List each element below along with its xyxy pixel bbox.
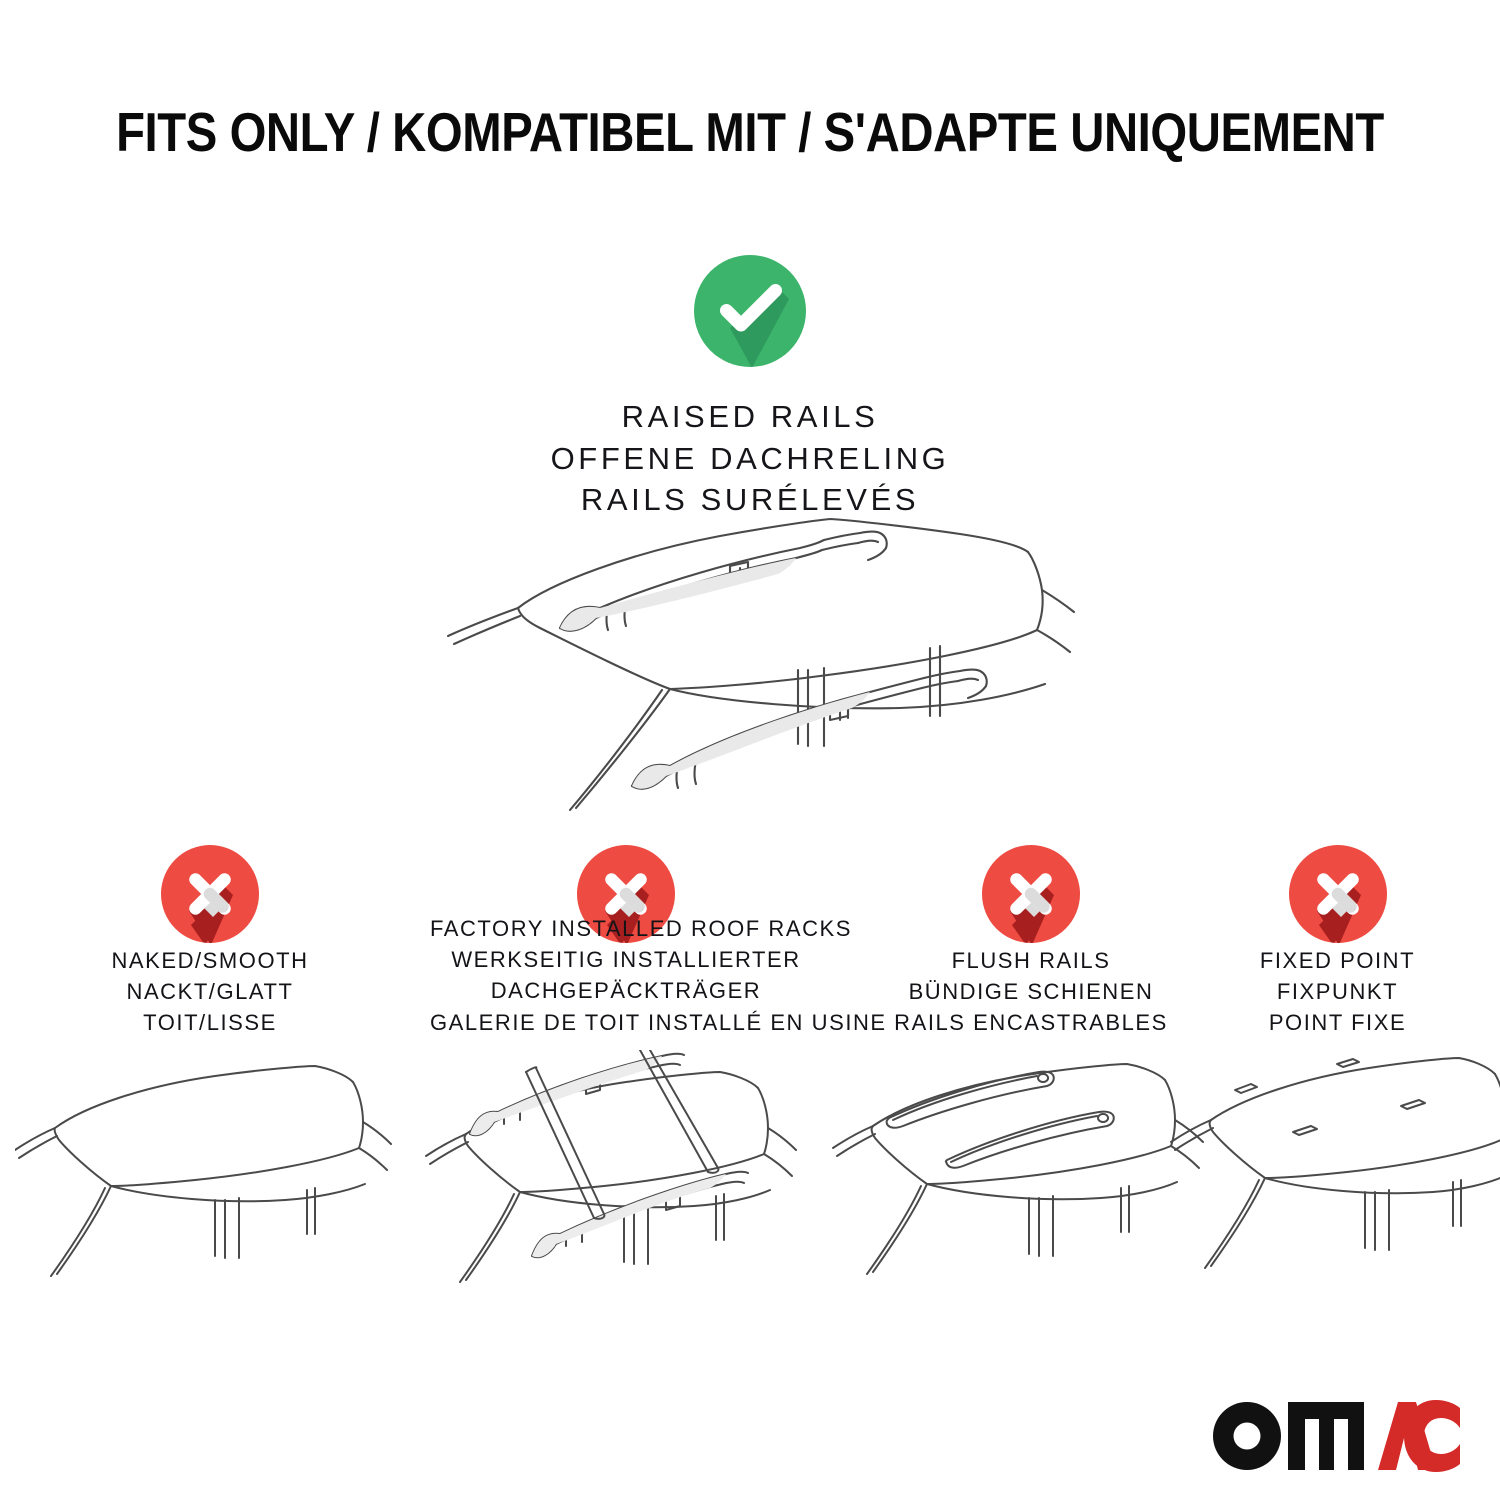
compatible-label-line-2: OFFENE DACHRELING: [0, 438, 1500, 480]
label-line-2: FIXPUNKT: [1195, 976, 1480, 1007]
label-line-4: GALERIE DE TOIT INSTALLÉ EN USINE: [430, 1007, 822, 1038]
cross-circle-icon: [1195, 845, 1480, 950]
check-circle-icon: [694, 255, 806, 367]
car-roof-factory-roof-racks-illustration: [408, 1050, 808, 1290]
incompatible-label-fixed-point: FIXED POINT FIXPUNKT POINT FIXE: [1195, 945, 1480, 1039]
label-line-3: POINT FIXE: [1195, 1007, 1480, 1038]
incompatible-item-fixed-point: FIXED POINT FIXPUNKT POINT FIXE: [1195, 845, 1480, 950]
compatible-section: RAISED RAILS OFFENE DACHRELING RAILS SUR…: [0, 255, 1500, 521]
omac-logo: OMAC: [1210, 1394, 1460, 1472]
label-line-2: NACKT/GLATT: [25, 976, 395, 1007]
label-line-2: BÜNDIGE SCHIENEN: [845, 976, 1217, 1007]
car-roof-fixed-point-illustration: [1165, 1050, 1500, 1290]
logo-letter-c: [1404, 1400, 1460, 1472]
incompatible-item-naked-smooth: NAKED/SMOOTH NACKT/GLATT TOIT/LISSE: [25, 845, 395, 950]
label-line-3: RAILS ENCASTRABLES: [845, 1007, 1217, 1038]
label-line-1: NAKED/SMOOTH: [25, 945, 395, 976]
cross-circle-icon: [25, 845, 395, 950]
car-roof-naked-smooth-illustration: [15, 1050, 405, 1290]
incompatible-label-factory-roof-racks: FACTORY INSTALLED ROOF RACKS WERKSEITIG …: [430, 913, 822, 1038]
page-title: FITS ONLY / KOMPATIBEL MIT / S'ADAPTE UN…: [105, 104, 1395, 162]
compatibility-chart-page: FITS ONLY / KOMPATIBEL MIT / S'ADAPTE UN…: [0, 0, 1500, 1500]
incompatible-label-flush-rails: FLUSH RAILS BÜNDIGE SCHIENEN RAILS ENCAS…: [845, 945, 1217, 1039]
label-line-1: FACTORY INSTALLED ROOF RACKS: [430, 913, 822, 944]
incompatible-item-factory-roof-racks: FACTORY INSTALLED ROOF RACKS WERKSEITIG …: [430, 845, 822, 950]
incompatible-section: NAKED/SMOOTH NACKT/GLATT TOIT/LISSE: [0, 845, 1500, 1295]
incompatible-label-naked-smooth: NAKED/SMOOTH NACKT/GLATT TOIT/LISSE: [25, 945, 395, 1039]
label-line-1: FIXED POINT: [1195, 945, 1480, 976]
label-line-2: WERKSEITIG INSTALLIERTER: [430, 944, 822, 975]
car-roof-raised-rails-illustration: [0, 498, 1500, 828]
label-line-3: DACHGEPÄCKTRÄGER: [430, 975, 822, 1006]
cross-circle-icon: [845, 845, 1217, 950]
logo-letter-m: [1288, 1402, 1364, 1470]
logo-letter-o: [1213, 1402, 1281, 1470]
compatible-label-line-1: RAISED RAILS: [0, 396, 1500, 438]
incompatible-item-flush-rails: FLUSH RAILS BÜNDIGE SCHIENEN RAILS ENCAS…: [845, 845, 1217, 950]
label-line-1: FLUSH RAILS: [845, 945, 1217, 976]
label-line-3: TOIT/LISSE: [25, 1007, 395, 1038]
